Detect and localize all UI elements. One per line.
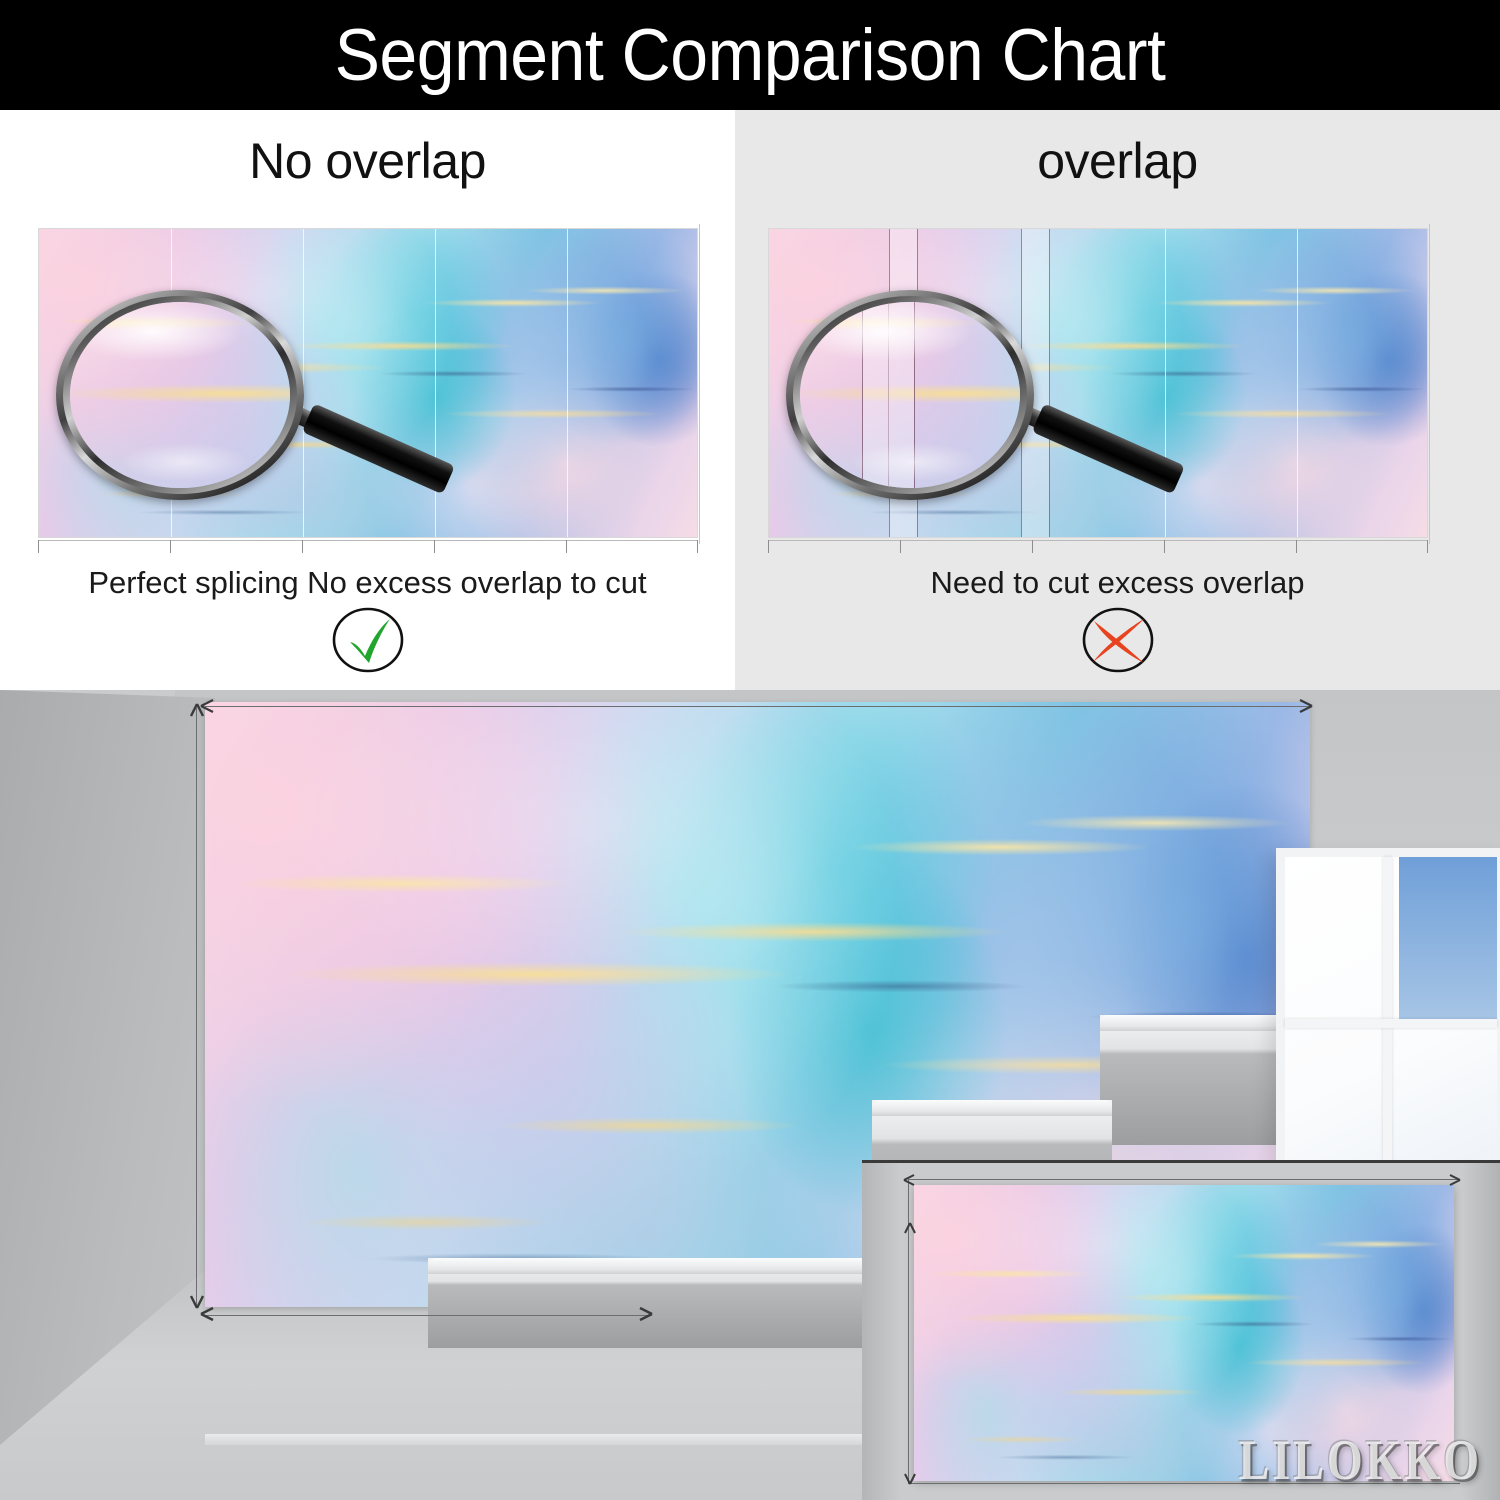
measurement-tick [1296, 540, 1297, 553]
inset-dimension-arrow-left-top [902, 1221, 918, 1239]
measurement-tick [900, 540, 901, 553]
measurement-tick [170, 540, 171, 553]
magnified-artwork [70, 302, 290, 488]
mural-strip-no-overlap [38, 228, 698, 538]
inset-dimension-arrow-top-left [902, 1172, 920, 1188]
seam-line [567, 229, 568, 537]
mural-strip-overlap [768, 228, 1428, 538]
brand-watermark: LILOKKO [1239, 1426, 1482, 1492]
dimension-arrow-top-right [1292, 697, 1314, 715]
red-cross-icon [1070, 605, 1166, 675]
comparison-panel-no-overlap: No overlap [0, 110, 735, 690]
measurement-tick [697, 540, 698, 553]
comparison-section: No overlap [0, 110, 1500, 690]
dimension-line-top [205, 706, 1310, 707]
page-title: Segment Comparison Chart [335, 13, 1166, 97]
measurement-tick [1427, 540, 1428, 553]
panel-caption-no-overlap: Perfect splicing No excess overlap to cu… [0, 565, 735, 601]
infographic-page: Segment Comparison Chart No overlap [0, 0, 1500, 1500]
dimension-line-width [205, 1315, 650, 1316]
dimension-arrow-top-left [199, 697, 221, 715]
green-check-icon [320, 605, 416, 675]
dimension-arrow-width-left [199, 1305, 221, 1323]
magnifier-glass-no-overlap [56, 290, 476, 520]
dimension-arrow-width-right [632, 1305, 654, 1323]
magnifier-lens [70, 302, 290, 488]
magnifier-handle [302, 403, 455, 494]
magnifier-ring [56, 290, 304, 500]
measurement-tick [434, 540, 435, 553]
measurement-tick [566, 540, 567, 553]
seam-line [1297, 229, 1298, 537]
measurement-tick [38, 540, 39, 553]
rail-end-marker [699, 224, 700, 544]
measurement-tick [1032, 540, 1033, 553]
comparison-panel-overlap: overlap [735, 110, 1500, 690]
panel-heading-no-overlap: No overlap [0, 132, 735, 190]
panel-caption-overlap: Need to cut excess overlap [735, 565, 1500, 601]
window-mullion-horizontal [1285, 1019, 1497, 1028]
window-sky [1399, 857, 1497, 1024]
measurement-tick [1164, 540, 1165, 553]
magnified-overlap-seam [914, 302, 915, 488]
inset-dimension-arrow-left-bottom [902, 1468, 918, 1486]
measurement-tick [768, 540, 769, 553]
magnifier-ring [786, 290, 1034, 500]
panel-heading-overlap: overlap [735, 132, 1500, 190]
magnifier-glass-overlap [786, 290, 1206, 520]
measurement-rail [38, 540, 698, 556]
inset-dimension-line-top [908, 1179, 1460, 1180]
inset-dimension-arrow-top-right [1444, 1172, 1462, 1188]
magnified-overlap-seam [888, 302, 889, 488]
rail-end-marker [1429, 224, 1430, 544]
measurement-rail [768, 540, 1428, 556]
magnified-overlap-seam [862, 302, 863, 488]
magnifier-handle [1032, 403, 1185, 494]
inset-mural-panel: LILOKKO [862, 1160, 1500, 1500]
dimension-line-height [196, 708, 197, 1308]
magnifier-lens [800, 302, 1020, 488]
measurement-tick [302, 540, 303, 553]
wall-ledge-lower [428, 1258, 878, 1348]
title-banner: Segment Comparison Chart [0, 0, 1500, 110]
